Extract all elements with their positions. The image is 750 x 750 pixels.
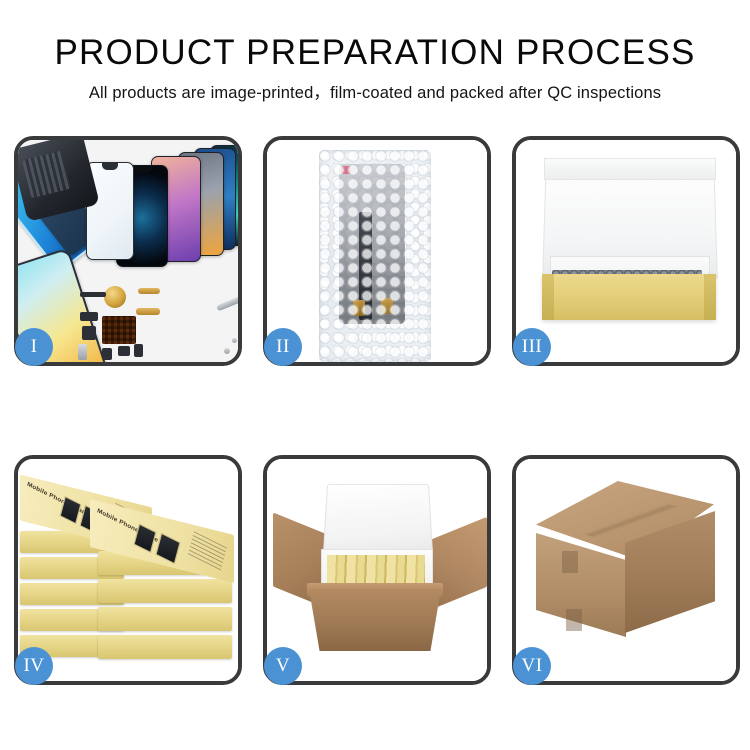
step-badge-6: VI xyxy=(513,647,551,685)
stack-box-front-3 xyxy=(98,607,232,631)
step-image-1 xyxy=(18,140,238,362)
lcd-screen-assembly xyxy=(339,164,405,324)
page-header: PRODUCT PREPARATION PROCESS All products… xyxy=(0,32,750,103)
step-panel-6: VI xyxy=(512,455,740,685)
camera-module-part xyxy=(102,348,112,360)
step-panel-3: III xyxy=(512,136,740,366)
box-art-screen-4 xyxy=(155,533,180,565)
step-image-4: Mobile Phone Spare Parts Mobile Phone Sp… xyxy=(18,459,238,681)
bubble-wrap-bag xyxy=(319,150,431,362)
step-badge-4: IV xyxy=(15,647,53,685)
page-title: PRODUCT PREPARATION PROCESS xyxy=(0,32,750,74)
sim-tray-part xyxy=(78,344,87,360)
screw-part-1 xyxy=(224,348,230,354)
product-preparation-page: PRODUCT PREPARATION PROCESS All products… xyxy=(0,0,750,750)
stack-box-front-2 xyxy=(98,579,232,603)
step-panel-2: II xyxy=(263,136,491,366)
step-panel-4: Mobile Phone Spare Parts Mobile Phone Sp… xyxy=(14,455,242,685)
box-spec-lines-front xyxy=(187,531,227,573)
speaker-mesh-part xyxy=(104,286,126,308)
step-image-5 xyxy=(267,459,487,681)
connector-part-1 xyxy=(80,312,98,321)
page-subtitle: All products are image-printed，film-coat… xyxy=(0,83,750,103)
screw-part-2 xyxy=(232,338,237,343)
foam-box-lid xyxy=(323,484,433,557)
step-badge-3: III xyxy=(513,328,551,366)
flex-cable-part-1 xyxy=(138,288,160,294)
carton-tab-lower xyxy=(566,609,582,631)
carton-tab-upper xyxy=(562,551,578,573)
step-badge-2: II xyxy=(264,328,302,366)
flex-cable-part-2 xyxy=(136,308,160,315)
earpiece-part xyxy=(80,292,106,297)
step-image-6 xyxy=(516,459,736,681)
box-art-screen-3 xyxy=(133,523,156,553)
connector-part-2 xyxy=(82,326,96,340)
stack-box-front-4 xyxy=(98,635,232,659)
connector-gold-2 xyxy=(381,298,393,314)
ic-chip-array xyxy=(102,316,136,344)
box-stack: Mobile Phone Spare Parts Mobile Phone Sp… xyxy=(20,477,238,677)
pink-label-sticker xyxy=(341,166,351,174)
box-art-screen-1 xyxy=(60,496,82,524)
kraft-box-body xyxy=(542,274,716,320)
step-image-2 xyxy=(267,140,487,362)
button-part xyxy=(134,344,143,357)
step-badge-1: I xyxy=(15,328,53,366)
process-step-grid: I II xyxy=(14,136,740,685)
step-image-3 xyxy=(516,140,736,362)
step-panel-1: I xyxy=(14,136,242,366)
box-lid-edge xyxy=(544,158,716,180)
box-edge-left xyxy=(542,274,554,320)
box-edge-right xyxy=(704,274,716,320)
vibrator-part xyxy=(118,346,130,356)
connector-gold-1 xyxy=(353,300,365,316)
carton-front-wall xyxy=(309,589,441,651)
step-panel-5: V xyxy=(263,455,491,685)
step-badge-5: V xyxy=(264,647,302,685)
